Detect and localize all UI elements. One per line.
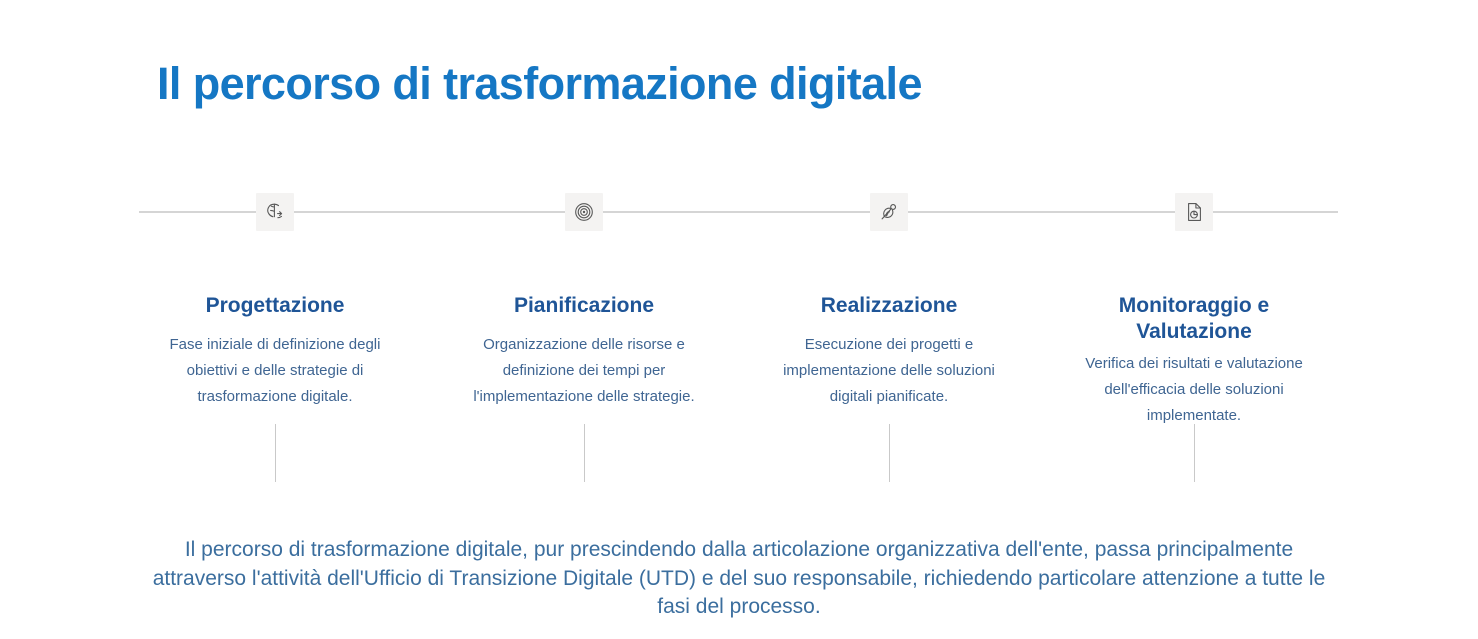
timeline-stage-2[interactable]: Pianificazione Organizzazione delle riso… bbox=[431, 193, 737, 231]
slide-canvas: Il percorso di trasformazione digitale bbox=[0, 0, 1478, 639]
timeline-stage-3-heading: Realizzazione bbox=[736, 293, 1042, 319]
timeline-stage-2-body: Pianificazione Organizzazione delle riso… bbox=[431, 293, 737, 410]
timeline-stage-4-heading: Monitoraggio e Valutazione bbox=[1094, 293, 1294, 345]
timeline-stage-1[interactable]: Progettazione Fase iniziale di definizio… bbox=[122, 193, 428, 231]
timeline-stage-4-description: Verifica dei risultati e valutazione del… bbox=[1068, 351, 1320, 429]
timeline-stage-2-connector bbox=[584, 424, 585, 482]
timeline-stage-1-description: Fase iniziale di definizione degli obiet… bbox=[149, 332, 401, 410]
timeline-stage-3-connector bbox=[889, 424, 890, 482]
pen-nib-icon bbox=[870, 193, 908, 231]
timeline-stage-3-body: Realizzazione Esecuzione dei progetti e … bbox=[736, 293, 1042, 410]
timeline-stage-1-connector bbox=[275, 424, 276, 482]
timeline-stage-3[interactable]: Realizzazione Esecuzione dei progetti e … bbox=[736, 193, 1042, 231]
timeline-stage-3-description: Esecuzione dei progetti e implementazion… bbox=[763, 332, 1015, 410]
footer-note: Il percorso di trasformazione digitale, … bbox=[139, 536, 1339, 622]
timeline-stage-2-heading: Pianificazione bbox=[431, 293, 737, 319]
timeline-stage-4-connector bbox=[1194, 424, 1195, 482]
brain-arrow-icon bbox=[256, 193, 294, 231]
document-chart-icon bbox=[1175, 193, 1213, 231]
timeline-stage-1-heading: Progettazione bbox=[122, 293, 428, 319]
timeline-stage-1-body: Progettazione Fase iniziale di definizio… bbox=[122, 293, 428, 410]
timeline-stage-2-description: Organizzazione delle risorse e definizio… bbox=[458, 332, 710, 410]
timeline-stage-4-body: Monitoraggio e Valutazione Verifica dei … bbox=[1041, 293, 1347, 429]
timeline-stage-4[interactable]: Monitoraggio e Valutazione Verifica dei … bbox=[1041, 193, 1347, 231]
target-bullseye-icon bbox=[565, 193, 603, 231]
